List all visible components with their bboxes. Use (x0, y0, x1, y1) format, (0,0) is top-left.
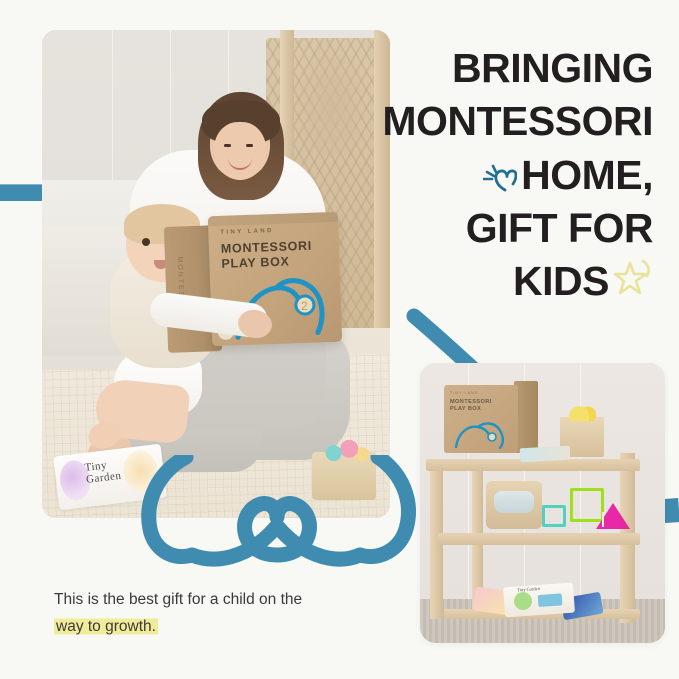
play-box-brand: TINY LAND (220, 228, 274, 236)
svg-text:2: 2 (301, 299, 308, 313)
headline-line-5-wrap: KIDS (333, 255, 653, 308)
inset-play-box-title: MONTESSORI PLAY BOX (450, 399, 492, 413)
headline-line-4: GIFT FOR (333, 202, 653, 255)
caption-line-1: This is the best gift for a child on the (54, 591, 302, 608)
headline-line-5: KIDS (513, 258, 609, 304)
floor-book-title: Tiny Garden (84, 459, 122, 486)
caption-highlighted-text: way to growth. (54, 617, 158, 636)
blue-accent-bar-left-icon (0, 184, 44, 201)
shelf-board-middle (438, 533, 640, 545)
pink-magnetic-pyramid-toy (596, 503, 630, 529)
headline: BRINGING MONTESSORI HOME, GIFT FOR KIDS (333, 42, 653, 308)
headline-line-3-wrap: HOME, (333, 149, 653, 202)
woman-face (214, 122, 266, 180)
inset-montessori-play-box: TINY LAND MONTESSORI PLAY BOX (444, 385, 518, 453)
wooden-spinning-drum-toy (486, 481, 542, 529)
headline-line-3: HOME, (521, 152, 653, 198)
sparkle-star-icon (613, 257, 653, 297)
teal-magnetic-cube-toy (542, 505, 566, 527)
poster-canvas: MONTESSORI TINY LAND MONTESSORI PLAY BOX… (0, 0, 679, 679)
woman-smile (228, 158, 252, 170)
book-rect-shape (538, 593, 563, 607)
headline-line-2: MONTESSORI (333, 95, 653, 148)
caption: This is the best gift for a child on the… (54, 586, 406, 640)
inset-box-line-art-icon (452, 419, 508, 449)
inset-play-box-title-line1: MONTESSORI (450, 399, 492, 405)
inset-play-box-brand: TINY LAND (450, 391, 478, 395)
heart-with-motion-lines-icon (483, 163, 517, 193)
play-box-title-line1: MONTESSORI (221, 239, 312, 256)
inset-play-box-title-line2: PLAY BOX (450, 406, 481, 412)
baby-eye-left (142, 238, 150, 246)
woman-eye-left (224, 144, 231, 147)
woman-eye-right (246, 144, 253, 147)
inset-book-title: Tiny Garden (517, 586, 540, 593)
book-splash-right (121, 448, 160, 494)
wooden-toy-basket (312, 452, 376, 500)
book-circle-shape (513, 592, 532, 611)
flash-cards (520, 446, 571, 463)
inset-cloth-book-main: Tiny Garden (503, 583, 575, 618)
inset-photo: TINY LAND MONTESSORI PLAY BOX Tiny Garde… (420, 363, 665, 643)
headline-line-1: BRINGING (333, 42, 653, 95)
